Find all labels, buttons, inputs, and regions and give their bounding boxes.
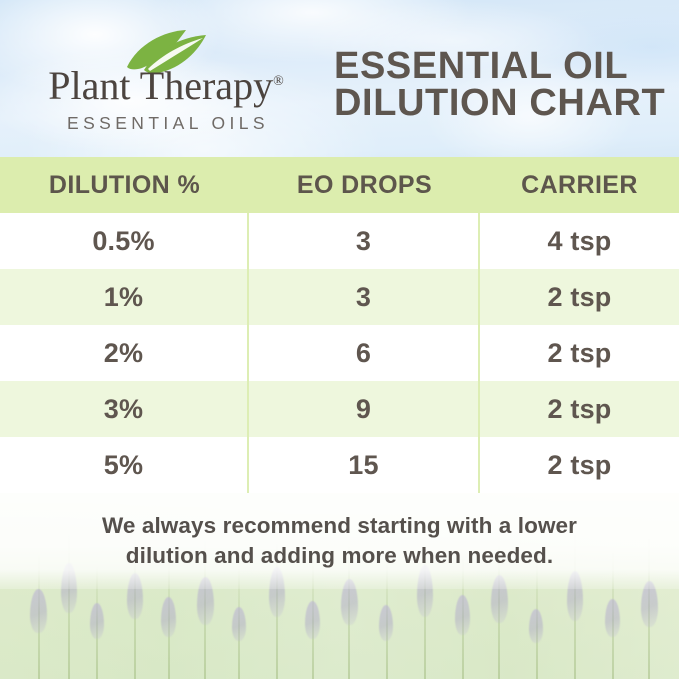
- page-title-line2: DILUTION CHART: [334, 85, 654, 122]
- cell-carrier: 2 tsp: [480, 325, 679, 381]
- cell-drops: 6: [249, 325, 480, 381]
- cell-carrier: 2 tsp: [480, 437, 679, 493]
- cell-carrier: 4 tsp: [480, 213, 679, 269]
- page-title-line1: ESSENTIAL OIL: [334, 48, 654, 85]
- cell-dilution: 1%: [0, 269, 249, 325]
- cell-carrier: 2 tsp: [480, 381, 679, 437]
- footer-note-line1: We always recommend starting with a lowe…: [102, 511, 577, 541]
- footer-section: We always recommend starting with a lowe…: [0, 493, 679, 679]
- column-header-dilution: DILUTION %: [0, 157, 249, 213]
- table-row: 2% 6 2 tsp: [0, 325, 679, 381]
- cell-carrier: 2 tsp: [480, 269, 679, 325]
- brand-name: Plant Therapy: [48, 63, 273, 108]
- column-header-carrier: CARRIER: [480, 157, 679, 213]
- registered-mark: ®: [273, 74, 284, 89]
- footer-note-line2: dilution and adding more when needed.: [126, 541, 553, 571]
- cell-dilution: 5%: [0, 437, 249, 493]
- dilution-table: DILUTION % EO DROPS CARRIER 0.5% 3 4 tsp…: [0, 157, 679, 549]
- page-title: ESSENTIAL OIL DILUTION CHART: [334, 48, 654, 122]
- brand-wordmark: Plant Therapy®: [32, 66, 300, 106]
- table-row: 1% 3 2 tsp: [0, 269, 679, 325]
- brand-tagline: ESSENTIAL OILS: [32, 113, 300, 134]
- cell-dilution: 2%: [0, 325, 249, 381]
- table-row: 0.5% 3 4 tsp: [0, 213, 679, 269]
- table-row: 3% 9 2 tsp: [0, 381, 679, 437]
- table-row: 5% 15 2 tsp: [0, 437, 679, 493]
- cell-drops: 15: [249, 437, 480, 493]
- cell-dilution: 3%: [0, 381, 249, 437]
- column-header-eo-drops: EO DROPS: [249, 157, 480, 213]
- cell-drops: 3: [249, 213, 480, 269]
- cell-dilution: 0.5%: [0, 213, 249, 269]
- cell-drops: 3: [249, 269, 480, 325]
- brand-logo: Plant Therapy® ESSENTIAL OILS: [32, 28, 300, 134]
- table-header-row: DILUTION % EO DROPS CARRIER: [0, 157, 679, 213]
- cell-drops: 9: [249, 381, 480, 437]
- footer-note: We always recommend starting with a lowe…: [0, 493, 679, 589]
- dilution-chart-infographic: Plant Therapy® ESSENTIAL OILS ESSENTIAL …: [0, 0, 679, 679]
